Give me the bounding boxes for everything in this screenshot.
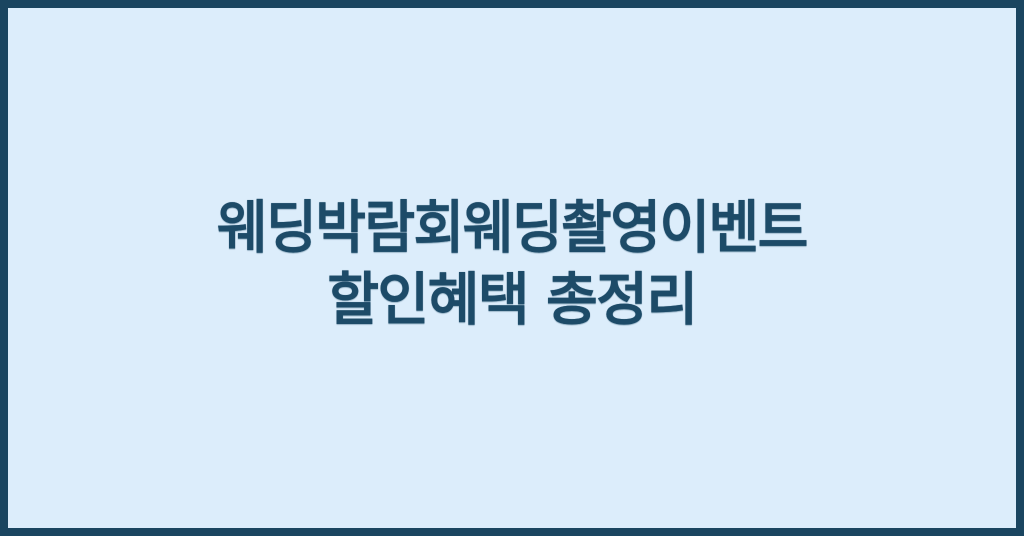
headline-line-1: 웨딩박람회웨딩촬영이벤트 xyxy=(26,192,999,264)
headline-line-2: 할인혜택 총정리 xyxy=(16,264,1009,336)
headline-block: 웨딩박람회웨딩촬영이벤트 할인혜택 총정리 xyxy=(8,192,1016,336)
banner-container: 웨딩박람회웨딩촬영이벤트 할인혜택 총정리 xyxy=(0,0,1024,536)
